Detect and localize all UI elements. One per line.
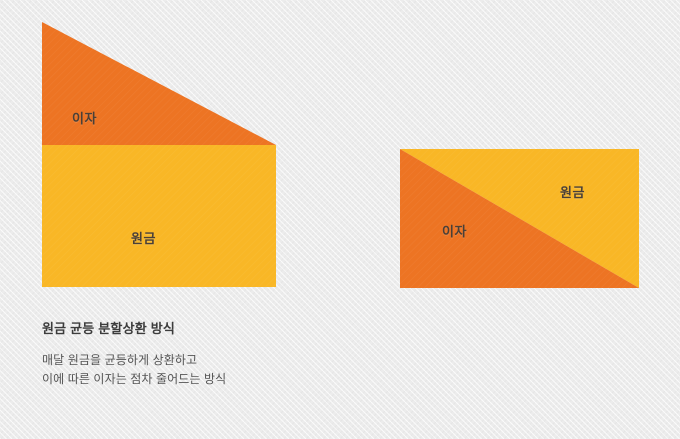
- segment-label-principal: 원금: [560, 182, 585, 201]
- caption-description-line: 매달 원금을 균등하게 상환하고: [42, 351, 342, 370]
- caption-description-line: 이에 따른 이자는 점차 줄어드는 방식: [42, 370, 342, 389]
- segment-label-interest: 이자: [442, 221, 467, 240]
- caption-principal-equal: 원금 균등 분할상환 방식 매달 원금을 균등하게 상환하고 이에 따른 이자는…: [42, 318, 342, 390]
- caption-title: 원금 균등 분할상환 방식: [42, 318, 342, 337]
- segment-label-principal: 원금: [131, 228, 156, 247]
- segment-label-interest: 이자: [72, 108, 97, 127]
- figure-principal-equal: 이자 원금: [42, 22, 276, 287]
- panel-principal-interest-equal: 이자 원금 원리금 균등 분할상환 방식 매달 원금과 이자를 금액을 균등하게…: [340, 0, 680, 439]
- infographic-canvas: 이자 원금 원금 균등 분할상환 방식 매달 원금을 균등하게 상환하고 이에 …: [0, 0, 680, 439]
- panel-principal-equal: 이자 원금 원금 균등 분할상환 방식 매달 원금을 균등하게 상환하고 이에 …: [0, 0, 340, 439]
- figure-principal-interest-equal: 이자 원금: [400, 149, 639, 288]
- caption-description: 매달 원금을 균등하게 상환하고 이에 따른 이자는 점차 줄어드는 방식: [42, 351, 342, 390]
